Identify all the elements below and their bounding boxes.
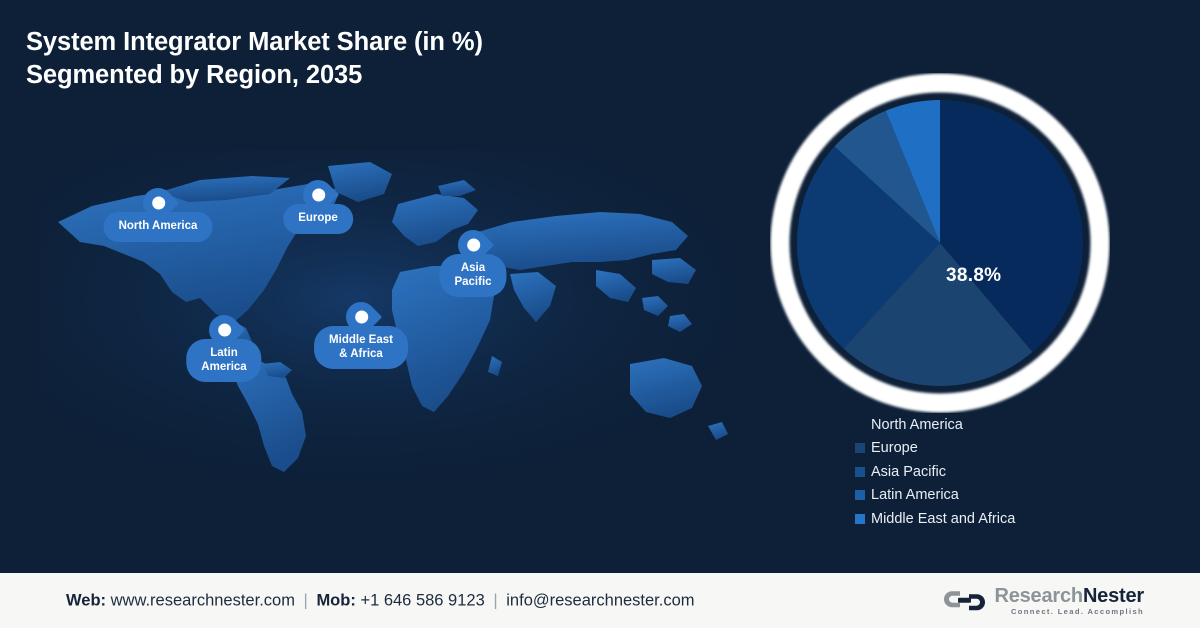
footer-separator: | — [489, 591, 501, 609]
brand-word-nester: Nester — [1083, 585, 1144, 607]
legend-item[interactable]: North America — [855, 413, 1155, 437]
legend-item[interactable]: Asia Pacific — [855, 460, 1155, 484]
legend-label: Europe — [871, 441, 918, 456]
brand-tagline: Connect. Lead. Accomplish — [994, 608, 1144, 616]
map-pin-label: Asia Pacific — [439, 254, 506, 297]
pie-slice-group — [797, 100, 1083, 386]
legend-item[interactable]: Middle East and Africa — [855, 507, 1155, 531]
legend-label: North America — [871, 418, 963, 433]
chain-link-icon — [943, 588, 987, 613]
legend-swatch-icon — [855, 514, 865, 524]
map-pin-label: Europe — [283, 204, 353, 234]
legend-swatch-icon — [855, 490, 865, 500]
footer-mob-label: Mob: — [316, 591, 355, 609]
legend-item[interactable]: Latin America — [855, 484, 1155, 508]
page-title: System Integrator Market Share (in %) Se… — [26, 26, 666, 92]
footer-separator: | — [300, 591, 312, 609]
map-pin-label: North America — [104, 212, 213, 242]
map-pin-label: Latin America — [186, 339, 261, 382]
footer-web-value[interactable]: www.researchnester.com — [111, 591, 295, 609]
legend-label: Latin America — [871, 488, 959, 503]
page-title-line-1: System Integrator Market Share (in %) — [26, 28, 483, 56]
brand-word-research: Research — [994, 585, 1082, 607]
brand-logo-text: ResearchNester Connect. Lead. Accomplish — [994, 586, 1144, 616]
footer-contact: Web: www.researchnester.com | Mob: +1 64… — [66, 591, 695, 610]
footer-mob-value: +1 646 586 9123 — [360, 591, 484, 609]
pie-chart: 38.8% — [770, 73, 1110, 413]
legend-label: Asia Pacific — [871, 465, 946, 480]
infographic-canvas: System Integrator Market Share (in %) Se… — [0, 0, 1200, 628]
footer-email[interactable]: info@researchnester.com — [506, 591, 694, 609]
brand-logo[interactable]: ResearchNester Connect. Lead. Accomplish — [943, 586, 1144, 616]
page-title-line-2: Segmented by Region, 2035 — [26, 59, 666, 92]
footer-bar: Web: www.researchnester.com | Mob: +1 64… — [0, 571, 1200, 628]
brand-name: ResearchNester — [994, 586, 1144, 606]
chart-legend: North America Europe Asia Pacific Latin … — [855, 413, 1155, 531]
legend-swatch-icon — [855, 420, 865, 430]
footer-web-label: Web: — [66, 591, 106, 609]
legend-item[interactable]: Europe — [855, 437, 1155, 461]
pie-chart-svg — [770, 73, 1110, 413]
legend-swatch-icon — [855, 467, 865, 477]
pie-highlight-label: 38.8% — [946, 265, 1066, 287]
legend-label: Middle East and Africa — [871, 512, 1015, 527]
map-pin-label: Middle East & Africa — [314, 326, 408, 369]
legend-swatch-icon — [855, 443, 865, 453]
world-map: North America Europe Asia Pacific Latin … — [40, 150, 740, 480]
